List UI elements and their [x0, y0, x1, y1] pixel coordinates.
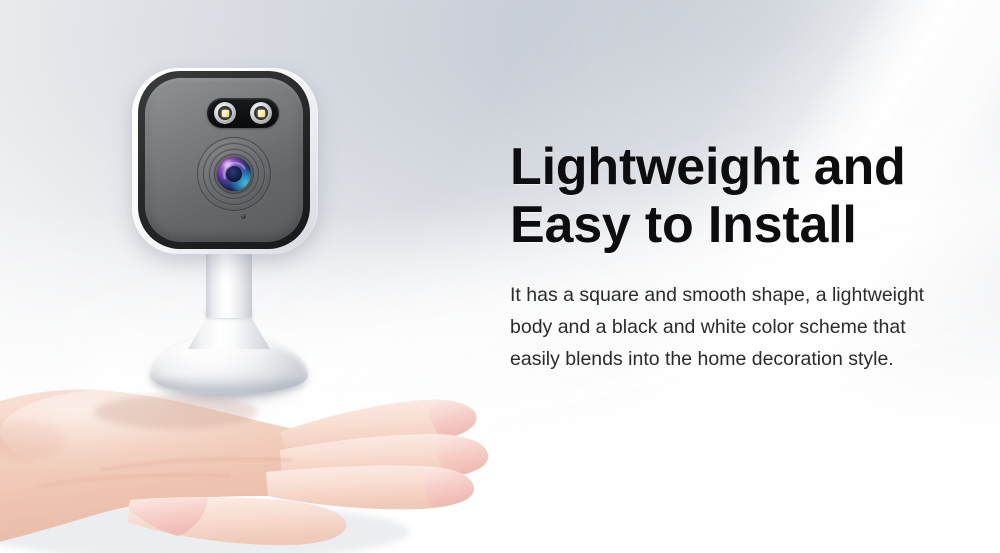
- body-copy: It has a square and smooth shape, a ligh…: [510, 280, 960, 375]
- camera-neck: [206, 244, 252, 318]
- camera-base-rim: [154, 374, 304, 394]
- camera-lens: [196, 136, 272, 212]
- headline-line-1: Lightweight and: [510, 138, 960, 196]
- led-inner-ring: [254, 106, 268, 120]
- ir-led-icon: [250, 102, 272, 124]
- body-line-1: It has a square and smooth shape, a ligh…: [510, 280, 960, 312]
- ir-led-icon: [214, 102, 236, 124]
- headline: Lightweight and Easy to Install: [510, 138, 960, 254]
- microphone-pinhole-icon: [241, 214, 246, 219]
- headline-line-2: Easy to Install: [510, 196, 960, 254]
- ir-led-module: [207, 98, 279, 128]
- body-line-3: easily blends into the home decoration s…: [510, 344, 960, 376]
- lens-glass: [217, 157, 251, 191]
- camera-face: [145, 78, 303, 242]
- led-inner-ring: [218, 106, 232, 120]
- led-chip: [258, 110, 265, 117]
- marketing-copy: Lightweight and Easy to Install It has a…: [510, 138, 960, 375]
- promo-banner: Lightweight and Easy to Install It has a…: [0, 0, 1000, 553]
- led-chip: [222, 110, 229, 117]
- body-line-2: body and a black and white color scheme …: [510, 312, 960, 344]
- security-camera: [118, 58, 328, 403]
